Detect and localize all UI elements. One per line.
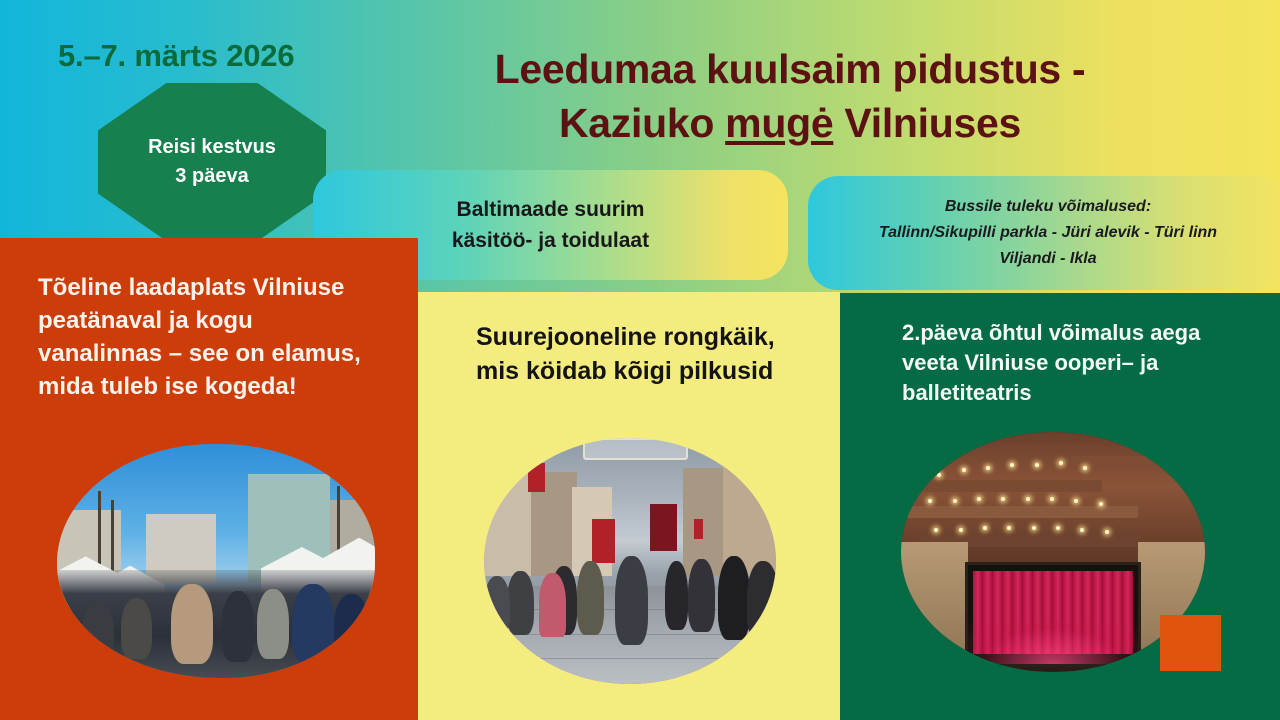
market-panel-text: Tõeline laadaplats Vilniuse peatänaval j… xyxy=(0,272,418,404)
procession-photo xyxy=(484,438,776,684)
title-post: Vilniuses xyxy=(833,100,1021,146)
theatre-panel-text: 2.päeva õhtul võimalus aega veeta Vilniu… xyxy=(840,318,1280,408)
title-line-1: Leedumaa kuulsaim pidustus - xyxy=(420,42,1160,96)
trip-date: 5.–7. märts 2026 xyxy=(58,38,294,74)
market-banner-line-1: Baltimaade suurim xyxy=(452,194,649,226)
accent-square xyxy=(1160,615,1221,671)
title-pre: Kaziuko xyxy=(559,100,725,146)
bus-route-banner: Bussile tuleku võimalused: Tallinn/Sikup… xyxy=(808,176,1280,290)
page-title: Leedumaa kuulsaim pidustus - Kaziuko mug… xyxy=(420,42,1160,150)
bus-route-line-1: Bussile tuleku võimalused: xyxy=(879,194,1217,220)
street-market-photo xyxy=(57,444,375,678)
parade-panel-text: Suurejooneline rongkäik, mis köidab kõig… xyxy=(418,320,840,389)
bus-route-line-3: Viljandi - Ikla xyxy=(879,246,1217,272)
market-banner-text: Baltimaade suurim käsitöö- ja toidulaat xyxy=(452,194,649,257)
badge-line-2: 3 päeva xyxy=(175,165,248,188)
badge-line-1: Reisi kestvus xyxy=(148,136,276,159)
bus-route-line-2: Tallinn/Sikupilli parkla - Jüri alevik -… xyxy=(879,220,1217,246)
title-underlined-word: mugė xyxy=(725,100,833,146)
market-banner-line-2: käsitöö- ja toidulaat xyxy=(452,225,649,257)
bus-route-text: Bussile tuleku võimalused: Tallinn/Sikup… xyxy=(861,194,1235,272)
title-line-2: Kaziuko mugė Vilniuses xyxy=(420,96,1160,150)
trip-duration-badge: Reisi kestvus 3 päeva xyxy=(98,83,326,241)
poster-canvas: 5.–7. märts 2026 Reisi kestvus 3 päeva L… xyxy=(0,0,1280,720)
